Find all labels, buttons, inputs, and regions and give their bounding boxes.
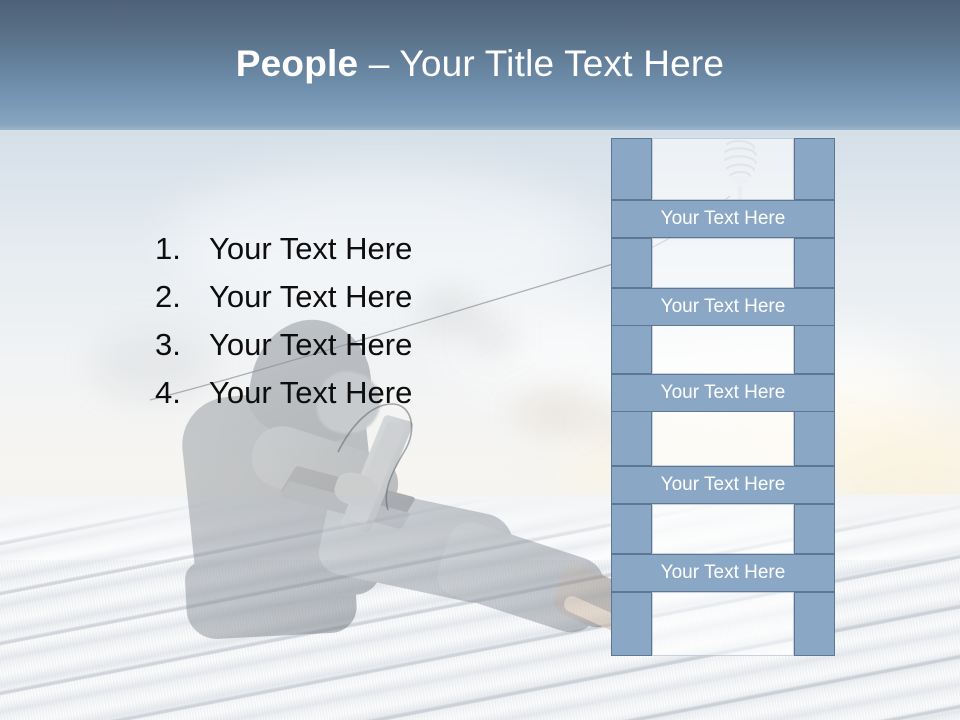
- ladder-rail-left-segment: [611, 138, 652, 200]
- list-item[interactable]: 4. Your Text Here: [155, 375, 515, 423]
- page-title-strong: People: [236, 43, 359, 84]
- page-title-rest: – Your Title Text Here: [358, 43, 724, 84]
- list-item[interactable]: 2. Your Text Here: [155, 279, 515, 327]
- ladder-rail-right-segment: [794, 592, 835, 656]
- list-item-label: Your Text Here: [209, 375, 515, 411]
- page-title: People – Your Title Text Here: [0, 0, 960, 128]
- ladder-rung-5[interactable]: Your Text Here: [611, 554, 835, 592]
- ladder-gap-panel: [652, 138, 794, 200]
- numbered-list: 1. Your Text Here 2. Your Text Here 3. Y…: [155, 231, 515, 423]
- ladder-gap-panel: [652, 592, 794, 656]
- ladder-rail-left-segment: [611, 504, 652, 554]
- ladder-rail-left-segment: [611, 238, 652, 288]
- slide-canvas: People – Your Title Text Here 1. Your Te…: [0, 0, 960, 720]
- ladder-rung-1[interactable]: Your Text Here: [611, 200, 835, 238]
- ladder-rung-3[interactable]: Your Text Here: [611, 374, 835, 412]
- list-item-number: 4.: [155, 375, 209, 411]
- list-item[interactable]: 3. Your Text Here: [155, 327, 515, 375]
- ladder-rail-right-segment: [794, 138, 835, 200]
- ladder-rail-left-segment: [611, 592, 652, 656]
- ladder-gap-panel: [652, 410, 794, 466]
- ladder-rung-2[interactable]: Your Text Here: [611, 288, 835, 326]
- list-item-number: 3.: [155, 327, 209, 363]
- ladder-rail-right-segment: [794, 504, 835, 554]
- list-item-number: 1.: [155, 231, 209, 267]
- ladder-diagram: Your Text Here Your Text Here Your Text …: [611, 138, 835, 656]
- list-item-label: Your Text Here: [209, 279, 515, 315]
- ladder-rail-right-segment: [794, 410, 835, 466]
- list-item-label: Your Text Here: [209, 231, 515, 267]
- ladder-gap-panel: [652, 504, 794, 554]
- ladder-gap-panel: [652, 238, 794, 288]
- list-item-number: 2.: [155, 279, 209, 315]
- list-item[interactable]: 1. Your Text Here: [155, 231, 515, 279]
- title-band: People – Your Title Text Here: [0, 0, 960, 130]
- ladder-gap-panel: [652, 324, 794, 374]
- ladder-rung-4[interactable]: Your Text Here: [611, 466, 835, 504]
- ladder-rail-right-segment: [794, 238, 835, 288]
- list-item-label: Your Text Here: [209, 327, 515, 363]
- ladder-rail-right-segment: [794, 324, 835, 374]
- ladder-rail-left-segment: [611, 410, 652, 466]
- ladder-rail-left-segment: [611, 324, 652, 374]
